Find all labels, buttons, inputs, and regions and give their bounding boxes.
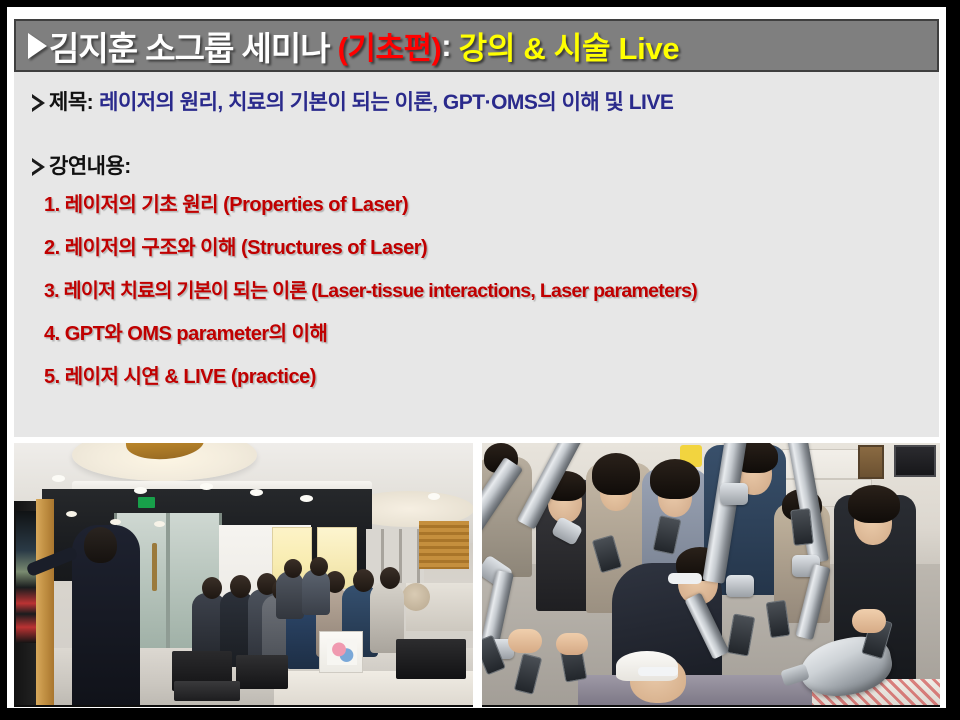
slide-inner: 김지훈 소그룹 세미나 (기초편) : 강의 & 시술 Live 제목: 레이저… <box>7 7 946 708</box>
play-triangle-icon <box>28 33 47 59</box>
agenda-item-1: 1. 레이저의 기초 원리 (Properties of Laser) <box>44 188 939 217</box>
agenda-item-2: 2. 레이저의 구조와 이해 (Structures of Laser) <box>44 231 939 260</box>
title-accent-red-text: (기초편) <box>338 23 442 68</box>
agenda-item-4: 4. GPT와 OMS parameter의 이해 <box>44 317 939 346</box>
title-colon-text: : <box>441 28 451 64</box>
row-spacer <box>14 120 939 150</box>
seminar-room-lecture-photo <box>14 443 473 707</box>
triangle-outline-icon <box>32 158 45 176</box>
title-main-text: 김지훈 소그룹 세미나 <box>49 22 330 70</box>
subject-row: 제목: 레이저의 원리, 치료의 기본이 되는 이론, GPT·OMS의 이해 … <box>14 86 939 116</box>
subject-label: 제목: <box>49 86 93 116</box>
triangle-outline-icon <box>32 94 45 112</box>
agenda-item-3: 3. 레이저 치료의 기본이 되는 이론 (Laser-tissue inter… <box>44 274 939 303</box>
photo-row <box>14 443 940 707</box>
agenda-heading-row: 강연내용: <box>14 150 939 180</box>
agenda-item-5: 5. 레이저 시연 & LIVE (practice) <box>44 360 939 389</box>
agenda-list: 1. 레이저의 기초 원리 (Properties of Laser) 2. 레… <box>14 188 939 389</box>
slide-frame: 김지훈 소그룹 세미나 (기초편) : 강의 & 시술 Live 제목: 레이저… <box>0 0 960 720</box>
slide-title-bar: 김지훈 소그룹 세미나 (기초편) : 강의 & 시술 Live <box>14 19 939 72</box>
agenda-heading-label: 강연내용: <box>49 150 131 180</box>
subject-value: 레이저의 원리, 치료의 기본이 되는 이론, GPT·OMS의 이해 및 LI… <box>99 86 673 116</box>
live-laser-demonstration-photo <box>482 443 940 707</box>
content-panel: 제목: 레이저의 원리, 치료의 기본이 되는 이론, GPT·OMS의 이해 … <box>14 72 939 437</box>
title-accent-yellow-text: 강의 & 시술 Live <box>459 23 680 68</box>
